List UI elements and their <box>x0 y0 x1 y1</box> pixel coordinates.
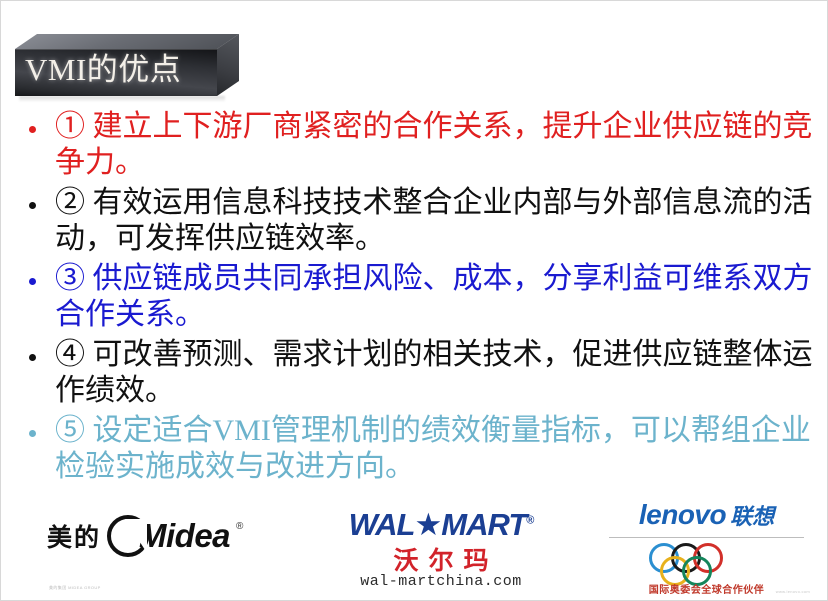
bullet-dot-icon <box>29 126 36 133</box>
bullet-text: ④ 可改善预测、需求计划的相关技术，促进供应链整体运作绩效。 <box>55 337 815 409</box>
walmart-registered-icon: ® <box>526 515 533 527</box>
list-item: ① 建立上下游厂商紧密的合作关系，提升企业供应链的竞争力。 <box>15 109 815 181</box>
midea-oval-icon <box>107 515 149 557</box>
walmart-url: wal-martchina.com <box>331 573 551 590</box>
lenovo-divider <box>609 537 804 538</box>
olympic-rings-group <box>649 543 765 579</box>
midea-wordmark: Midea <box>139 517 230 555</box>
walmart-logo: WAL★MART® 沃尔玛 wal-martchina.com <box>331 493 551 601</box>
partner-logo-strip: 美的 Midea ® 美的集团 MIDEA GROUP WAL★MART® 沃尔… <box>1 493 828 601</box>
olympic-rings-icon <box>599 543 814 579</box>
bullet-text: ⑤ 设定适合VMI管理机制的绩效衡量指标，可以帮组企业检验实施成效与改进方向。 <box>55 413 815 485</box>
bullet-dot-icon <box>29 278 36 285</box>
lenovo-logo: lenovo联想 国际奥委会全球合作伙伴 www.lenovo.com <box>599 493 814 601</box>
title-box-top-face <box>15 34 239 49</box>
midea-logo: 美的 Midea ® 美的集团 MIDEA GROUP <box>37 493 267 601</box>
walmart-chinese-name: 沃尔玛 <box>331 541 551 577</box>
walmart-wordmark: WAL★MART® <box>331 507 551 543</box>
bullet-dot-icon <box>29 202 36 209</box>
list-item: ⑤ 设定适合VMI管理机制的绩效衡量指标，可以帮组企业检验实施成效与改进方向。 <box>15 413 815 485</box>
title-box-shadow <box>19 96 225 102</box>
walmart-wordmark-text: WAL★MART <box>349 507 527 542</box>
slide-canvas: VMI的优点 ① 建立上下游厂商紧密的合作关系，提升企业供应链的竞争力。 ② 有… <box>0 0 828 601</box>
list-item: ② 有效运用信息科技技术整合企业内部与外部信息流的活动，可发挥供应链效率。 <box>15 185 815 257</box>
midea-registered-icon: ® <box>236 521 243 532</box>
slide-title-box: VMI的优点 <box>15 34 239 96</box>
midea-logo-row: 美的 Midea ® <box>47 515 243 557</box>
page-title: VMI的优点 <box>25 50 181 90</box>
list-item: ④ 可改善预测、需求计划的相关技术，促进供应链整体运作绩效。 <box>15 337 815 409</box>
midea-chinese-name: 美的 <box>47 518 101 554</box>
bullet-dot-icon <box>29 354 36 361</box>
bullet-text: ③ 供应链成员共同承担风险、成本，分享利益可维系双方合作关系。 <box>55 261 815 333</box>
bullet-text: ② 有效运用信息科技技术整合企业内部与外部信息流的活动，可发挥供应链效率。 <box>55 185 815 257</box>
lenovo-chinese-name: 联想 <box>730 504 774 529</box>
lenovo-fine-print: www.lenovo.com <box>776 589 810 594</box>
midea-fine-print: 美的集团 MIDEA GROUP <box>49 585 101 591</box>
bullet-list: ① 建立上下游厂商紧密的合作关系，提升企业供应链的竞争力。 ② 有效运用信息科技… <box>15 109 815 489</box>
list-item: ③ 供应链成员共同承担风险、成本，分享利益可维系双方合作关系。 <box>15 261 815 333</box>
bullet-dot-icon <box>29 430 36 437</box>
bullet-text: ① 建立上下游厂商紧密的合作关系，提升企业供应链的竞争力。 <box>55 109 815 181</box>
lenovo-wordmark: lenovo <box>639 499 726 530</box>
lenovo-wordmark-row: lenovo联想 <box>599 499 814 531</box>
